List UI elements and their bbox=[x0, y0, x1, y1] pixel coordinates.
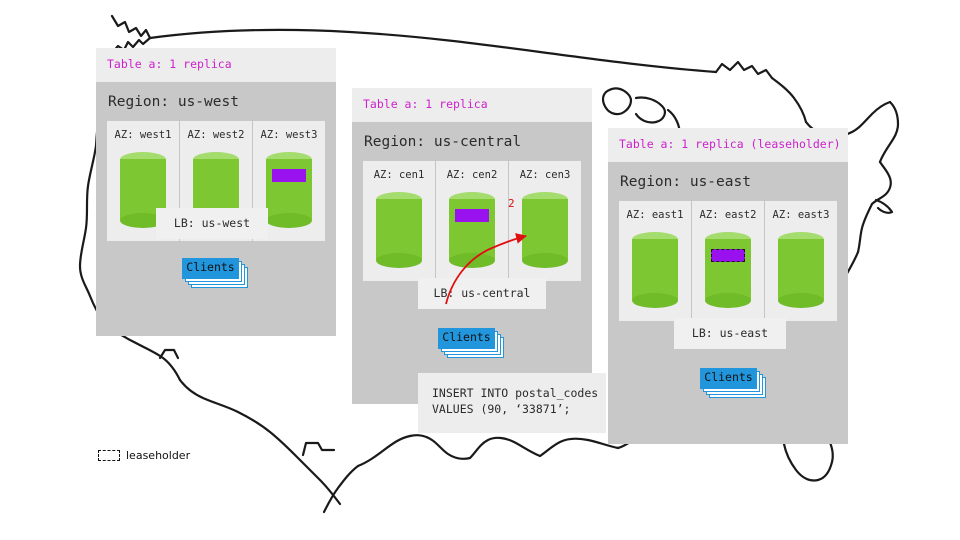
legend-label: leaseholder bbox=[126, 450, 190, 461]
arrow-step-label: 2 bbox=[508, 198, 515, 209]
replica-bar-cen2[interactable] bbox=[455, 209, 489, 222]
db-cylinder-east1[interactable] bbox=[632, 232, 678, 308]
lb-box-us-west[interactable]: LB: us-west bbox=[156, 208, 268, 240]
panel-header-us-central: Table a: 1 replica bbox=[352, 88, 592, 122]
az-label-west3: AZ: west3 bbox=[261, 130, 318, 141]
az-label-cen1: AZ: cen1 bbox=[374, 170, 425, 181]
az-cell-cen2[interactable]: AZ: cen2 bbox=[436, 161, 509, 281]
lb-box-us-east[interactable]: LB: us-east bbox=[674, 318, 786, 350]
region-panel-us-central: Table a: 1 replica Region: us-central AZ… bbox=[352, 88, 592, 404]
az-label-west2: AZ: west2 bbox=[188, 130, 245, 141]
db-cylinder-cen1[interactable] bbox=[376, 192, 422, 268]
sql-statement-box: INSERT INTO postal_codes VALUES (90, ‘33… bbox=[418, 373, 606, 433]
az-label-cen2: AZ: cen2 bbox=[447, 170, 498, 181]
clients-label-us-east[interactable]: Clients bbox=[700, 368, 757, 389]
panel-body-us-west: Region: us-west AZ: west1 AZ: west2 bbox=[96, 82, 336, 336]
replica-bar-east2-leaseholder[interactable] bbox=[711, 249, 745, 262]
region-title-us-east: Region: us-east bbox=[608, 162, 848, 202]
db-cylinder-west3[interactable] bbox=[266, 152, 312, 228]
db-cylinder-cen3[interactable] bbox=[522, 192, 568, 268]
az-label-west1: AZ: west1 bbox=[115, 130, 172, 141]
az-cell-cen1[interactable]: AZ: cen1 bbox=[363, 161, 436, 281]
region-panel-us-east: Table a: 1 replica (leaseholder) Region:… bbox=[608, 128, 848, 444]
az-label-east3: AZ: east3 bbox=[773, 210, 830, 221]
panel-header-us-west: Table a: 1 replica bbox=[96, 48, 336, 82]
az-label-cen3: AZ: cen3 bbox=[520, 170, 571, 181]
clients-card-us-central[interactable]: Clients bbox=[438, 328, 504, 358]
leaseholder-swatch-icon bbox=[98, 450, 120, 461]
az-label-east2: AZ: east2 bbox=[700, 210, 757, 221]
db-cylinder-east3[interactable] bbox=[778, 232, 824, 308]
diagram-canvas: Table a: 1 replica Region: us-west AZ: w… bbox=[0, 0, 960, 540]
panel-header-us-east: Table a: 1 replica (leaseholder) bbox=[608, 128, 848, 162]
db-cylinder-east2[interactable] bbox=[705, 232, 751, 308]
lb-box-us-central[interactable]: LB: us-central bbox=[418, 278, 546, 310]
clients-label-us-west[interactable]: Clients bbox=[182, 258, 239, 279]
legend: leaseholder bbox=[98, 450, 190, 461]
clients-card-us-east[interactable]: Clients bbox=[700, 368, 766, 398]
clients-card-us-west[interactable]: Clients bbox=[182, 258, 248, 288]
region-panel-us-west: Table a: 1 replica Region: us-west AZ: w… bbox=[96, 48, 336, 336]
panel-body-us-east: Region: us-east AZ: east1 AZ: east2 bbox=[608, 162, 848, 444]
az-cell-east1[interactable]: AZ: east1 bbox=[619, 201, 692, 321]
panel-body-us-central: Region: us-central AZ: cen1 AZ: cen2 bbox=[352, 122, 592, 404]
az-cell-east3[interactable]: AZ: east3 bbox=[765, 201, 837, 321]
region-title-us-central: Region: us-central bbox=[352, 122, 592, 162]
az-cell-east2[interactable]: AZ: east2 bbox=[692, 201, 765, 321]
clients-label-us-central[interactable]: Clients bbox=[438, 328, 495, 349]
db-cylinder-cen2[interactable] bbox=[449, 192, 495, 268]
az-cell-cen3[interactable]: AZ: cen3 bbox=[509, 161, 581, 281]
region-title-us-west: Region: us-west bbox=[96, 82, 336, 122]
az-row-us-central: AZ: cen1 AZ: cen2 bbox=[363, 161, 581, 281]
replica-bar-west3[interactable] bbox=[272, 169, 306, 182]
az-label-east1: AZ: east1 bbox=[627, 210, 684, 221]
az-row-us-east: AZ: east1 AZ: east2 bbox=[619, 201, 837, 321]
